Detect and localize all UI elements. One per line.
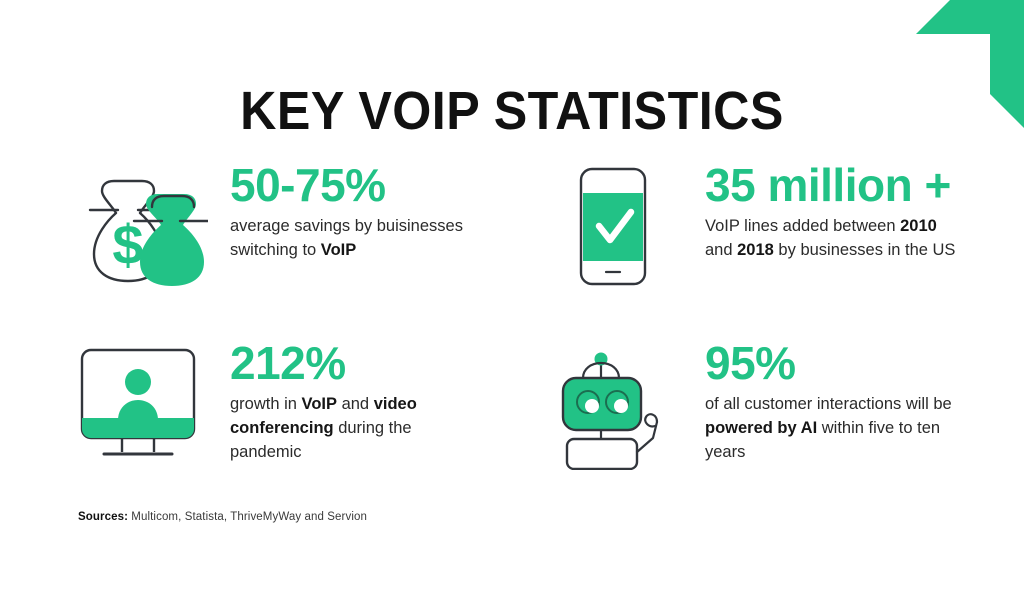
robot-icon xyxy=(537,338,689,468)
stat-item: 35 million + VoIP lines added between 20… xyxy=(537,160,962,290)
stat-value: 35 million + xyxy=(705,162,962,209)
stat-description: VoIP lines added between 2010 and 2018 b… xyxy=(705,215,962,263)
svg-text:$: $ xyxy=(112,213,143,276)
smartphone-check-icon xyxy=(537,160,689,290)
page-title: KEY VOIP STATISTICS xyxy=(36,80,988,142)
monitor-person-icon xyxy=(62,338,214,468)
stat-body: 95% of all customer interactions will be… xyxy=(705,338,962,465)
stat-body: 212% growth in VoIP and video conferenci… xyxy=(230,338,487,465)
stat-value: 212% xyxy=(230,340,487,387)
stat-description: average savings by buisinesses switching… xyxy=(230,215,487,263)
stat-item: 95% of all customer interactions will be… xyxy=(537,338,962,468)
stat-item: 212% growth in VoIP and video conferenci… xyxy=(62,338,487,468)
stat-description: of all customer interactions will be pow… xyxy=(705,393,962,465)
sources-text: Multicom, Statista, ThriveMyWay and Serv… xyxy=(128,511,367,523)
stat-value: 95% xyxy=(705,340,962,387)
stat-item: $ 50-75% average savings by buisinesses … xyxy=(62,160,487,290)
money-bags-icon: $ xyxy=(62,160,214,290)
sources-label: Sources: xyxy=(78,511,128,523)
stats-grid: $ 50-75% average savings by buisinesses … xyxy=(62,160,962,468)
stat-body: 35 million + VoIP lines added between 20… xyxy=(705,160,962,263)
stat-body: 50-75% average savings by buisinesses sw… xyxy=(230,160,487,263)
stat-description: growth in VoIP and video conferencing du… xyxy=(230,393,487,465)
infographic-canvas: KEY VOIP STATISTICS $ xyxy=(0,0,1024,591)
sources-line: Sources: Multicom, Statista, ThriveMyWay… xyxy=(78,511,367,523)
stat-value: 50-75% xyxy=(230,162,487,209)
